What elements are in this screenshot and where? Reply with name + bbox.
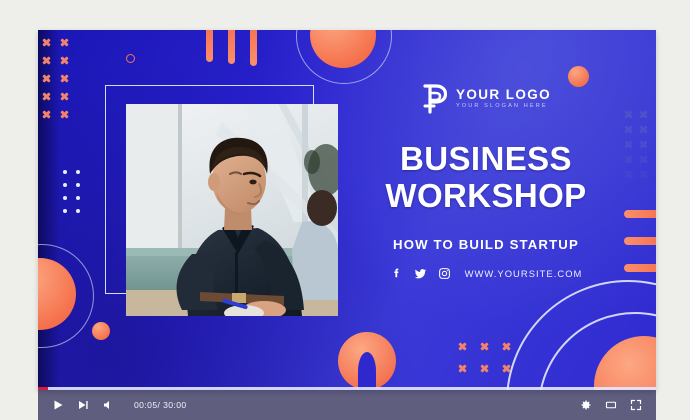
orange-horizontal-bar-2	[624, 237, 656, 245]
thumbnail-content-column: YOUR LOGO YOUR SLOGAN HERE BUSINESS WORK…	[370, 84, 602, 280]
player-controls-bar: 00:05/ 30:00	[38, 390, 656, 420]
social-links-row: WWW.YOURSITE.COM	[370, 267, 602, 280]
twitter-icon[interactable]	[414, 267, 427, 280]
logo-lockup: YOUR LOGO YOUR SLOGAN HERE	[370, 84, 602, 114]
orange-vertical-bar-3	[250, 30, 257, 66]
orange-horizontal-bar-3	[624, 264, 656, 272]
play-icon[interactable]	[52, 399, 64, 411]
arc-ring-bottom-left	[38, 244, 94, 348]
subtitle: HOW TO BUILD STARTUP	[370, 237, 602, 252]
website-url[interactable]: WWW.YOURSITE.COM	[465, 268, 583, 279]
logo-text-block: YOUR LOGO YOUR SLOGAN HERE	[456, 88, 551, 110]
orange-vertical-bar-2	[228, 30, 235, 64]
volume-icon[interactable]	[102, 399, 114, 411]
gear-icon[interactable]	[580, 399, 592, 411]
presenter-photo	[126, 104, 338, 316]
theater-mode-icon[interactable]	[605, 399, 617, 411]
monogram-b-icon	[421, 84, 447, 114]
fullscreen-icon[interactable]	[630, 399, 642, 411]
facebook-icon[interactable]	[390, 267, 403, 280]
arc-ring-top	[296, 30, 392, 84]
player-controls-right	[580, 399, 642, 411]
orange-vertical-bar-1	[206, 30, 213, 62]
player-controls-left: 00:05/ 30:00	[52, 399, 187, 411]
next-track-icon[interactable]	[77, 399, 89, 411]
tiny-ring-decoration	[126, 54, 135, 63]
instagram-icon[interactable]	[438, 267, 451, 280]
headline-line-2: WORKSHOP	[370, 177, 602, 214]
orange-horizontal-bar-1	[624, 210, 656, 218]
youtube-thumbnail-mockup: YOUR LOGO YOUR SLOGAN HERE BUSINESS WORK…	[0, 0, 690, 420]
headline-line-1: BUSINESS	[370, 140, 602, 177]
logo-slogan: YOUR SLOGAN HERE	[456, 104, 551, 110]
logo-name: YOUR LOGO	[456, 88, 551, 102]
orange-donut-hole	[358, 352, 376, 390]
time-display: 00:05/ 30:00	[134, 400, 187, 410]
orange-circle-small-bottom-left	[92, 322, 110, 340]
